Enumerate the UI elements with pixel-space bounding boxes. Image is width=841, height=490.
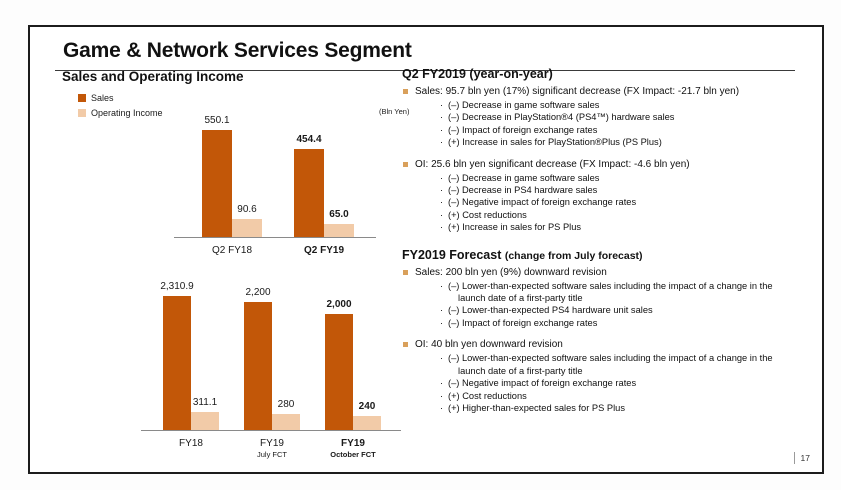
bullet-primary-text: OI: 25.6 bln yen significant decrease (F… xyxy=(415,159,690,170)
bullet-primary: OI: 25.6 bln yen significant decrease (F… xyxy=(402,158,812,172)
bullet-dot-icon: · xyxy=(440,99,443,111)
bar-operating-income-q2-fy19 xyxy=(324,224,354,237)
bullet-secondary: launch date of a first-party title xyxy=(402,365,812,377)
plot-area-top: 550.190.6Q2 FY18454.465.0Q2 FY19 xyxy=(46,87,402,287)
bullet-dot-icon: · xyxy=(440,317,443,329)
bullet-dot-icon: · xyxy=(440,172,443,184)
chart-axis-line xyxy=(141,430,401,431)
bar-sales-fy18 xyxy=(163,296,191,430)
charts-heading: Sales and Operating Income xyxy=(62,69,244,84)
bullet-primary: Sales: 95.7 bln yen (17%) significant de… xyxy=(402,85,812,99)
title-block: Game & Network Services Segment xyxy=(63,39,788,63)
bar-operating-income-fy19july-fct xyxy=(272,414,300,430)
bullet-secondary: ·(–) Decrease in game software sales xyxy=(402,99,812,111)
bullet-secondary-text: (–) Lower-than-expected PS4 hardware uni… xyxy=(448,305,653,315)
bullet-secondary: ·(–) Decrease in PS4 hardware sales xyxy=(402,184,812,196)
bullet-dot-icon: · xyxy=(440,390,443,402)
bullet-secondary: ·(+) Higher-than-expected sales for PS P… xyxy=(402,402,812,414)
bar-sales-fy19october-fct xyxy=(325,314,353,430)
bullet-square-icon xyxy=(403,270,408,275)
bar-value-label: 2,000 xyxy=(309,299,369,310)
bullet-secondary-text: (–) Impact of foreign exchange rates xyxy=(448,318,597,328)
bar-operating-income-fy19october-fct xyxy=(353,416,381,430)
slide-background: Game & Network Services Segment Sales an… xyxy=(0,0,841,490)
bullet-dot-icon: · xyxy=(440,124,443,136)
bar-value-label: 550.1 xyxy=(187,115,247,126)
bullet-secondary: ·(–) Decrease in PlayStation®4 (PS4™) ha… xyxy=(402,111,812,123)
bullet-dot-icon: · xyxy=(440,136,443,148)
bar-sales-fy19july-fct xyxy=(244,302,272,430)
bullet-secondary: ·(+) Cost reductions xyxy=(402,209,812,221)
bullet-secondary-text: (+) Increase in sales for PlayStation®Pl… xyxy=(448,137,662,147)
bullet-secondary-text: (–) Negative impact of foreign exchange … xyxy=(448,197,636,207)
chart-axis-line xyxy=(174,237,376,238)
page-number-block: 17 xyxy=(794,452,810,464)
bullet-secondary-text: (–) Decrease in game software sales xyxy=(448,173,599,183)
bar-value-label: 280 xyxy=(256,399,316,410)
bullet-primary: OI: 40 bln yen downward revision xyxy=(402,338,812,352)
bullet-secondary: ·(–) Lower-than-expected software sales … xyxy=(402,352,812,364)
section-title-q2: Q2 FY2019 (year-on-year) xyxy=(402,67,812,81)
bullet-square-icon xyxy=(403,342,408,347)
bar-sales-q2-fy19 xyxy=(294,149,324,237)
bullet-primary-text: Sales: 95.7 bln yen (17%) significant de… xyxy=(415,86,739,97)
bullet-secondary: ·(–) Impact of foreign exchange rates xyxy=(402,124,812,136)
bullet-primary-text: Sales: 200 bln yen (9%) downward revisio… xyxy=(415,267,607,278)
section-q2-fy2019: Q2 FY2019 (year-on-year) Sales: 95.7 bln… xyxy=(402,67,812,234)
bullet-dot-icon: · xyxy=(440,111,443,123)
section-title-forecast: FY2019 Forecast (change from July foreca… xyxy=(402,248,812,262)
bullet-secondary-text: (–) Impact of foreign exchange rates xyxy=(448,125,597,135)
bullet-dot-icon: · xyxy=(440,221,443,233)
slide-frame: Game & Network Services Segment Sales an… xyxy=(28,25,824,474)
section-fy2019-forecast: FY2019 Forecast (change from July foreca… xyxy=(402,248,812,415)
page-number-tick xyxy=(794,452,795,464)
bar-sales-q2-fy18 xyxy=(202,130,232,237)
bullet-primary-text: OI: 40 bln yen downward revision xyxy=(415,339,563,350)
bullet-dot-icon: · xyxy=(440,352,443,364)
bar-value-label: 2,200 xyxy=(228,287,288,298)
bullet-sublist: ·(–) Decrease in game software sales·(–)… xyxy=(402,99,812,149)
bar-value-label: 454.4 xyxy=(279,134,339,145)
bullet-secondary: ·(–) Negative impact of foreign exchange… xyxy=(402,377,812,389)
bullet-secondary-text: (–) Lower-than-expected software sales i… xyxy=(448,353,773,363)
bar-value-label: 240 xyxy=(337,401,397,412)
bullet-secondary: ·(–) Lower-than-expected software sales … xyxy=(402,280,812,292)
bullet-secondary: launch date of a first-party title xyxy=(402,292,812,304)
bullet-secondary-text: (+) Higher-than-expected sales for PS Pl… xyxy=(448,403,625,413)
bullet-dot-icon: · xyxy=(440,209,443,221)
bullet-secondary: ·(+) Increase in sales for PS Plus xyxy=(402,221,812,233)
bullet-square-icon xyxy=(403,162,408,167)
bullet-secondary-text: (–) Lower-than-expected software sales i… xyxy=(448,281,773,291)
plot-area-bottom: 2,310.9311.1FY182,200280FY19July FCT2,00… xyxy=(46,283,402,469)
bar-value-label: 2,310.9 xyxy=(147,281,207,292)
bullet-dot-icon: · xyxy=(440,280,443,292)
bar-value-label: 65.0 xyxy=(309,209,369,220)
section-title-forecast-sub: (change from July forecast) xyxy=(505,250,643,262)
bullet-secondary-text: (–) Decrease in PS4 hardware sales xyxy=(448,185,597,195)
bullet-secondary: ·(–) Lower-than-expected PS4 hardware un… xyxy=(402,304,812,316)
chart-fy-forecast: 2,310.9311.1FY182,200280FY19July FCT2,00… xyxy=(46,283,402,469)
bar-value-label: 90.6 xyxy=(217,204,277,215)
bullet-secondary-text: (+) Increase in sales for PS Plus xyxy=(448,222,581,232)
bullet-sublist: ·(–) Decrease in game software sales·(–)… xyxy=(402,172,812,234)
bar-operating-income-q2-fy18 xyxy=(232,219,262,237)
chart-q2-comparison: 550.190.6Q2 FY18454.465.0Q2 FY19 xyxy=(46,87,402,287)
bullet-secondary-text: (–) Decrease in game software sales xyxy=(448,100,599,110)
commentary-column: Q2 FY2019 (year-on-year) Sales: 95.7 bln… xyxy=(402,67,812,414)
bullet-dot-icon: · xyxy=(440,196,443,208)
bullet-dot-icon: · xyxy=(440,184,443,196)
bullet-secondary-text: (+) Cost reductions xyxy=(448,210,527,220)
bullet-primary: Sales: 200 bln yen (9%) downward revisio… xyxy=(402,266,812,280)
page-number: 17 xyxy=(801,453,810,463)
bullet-sublist: ·(–) Lower-than-expected software sales … xyxy=(402,280,812,330)
bullet-secondary-text: (–) Negative impact of foreign exchange … xyxy=(448,378,636,388)
charts-column: Sales and Operating Income Sales Operati… xyxy=(46,69,402,469)
bullet-dot-icon: · xyxy=(440,402,443,414)
bullet-secondary-text: (–) Decrease in PlayStation®4 (PS4™) har… xyxy=(448,112,674,122)
bullet-secondary-text: (+) Cost reductions xyxy=(448,391,527,401)
bullet-secondary: ·(+) Increase in sales for PlayStation®P… xyxy=(402,136,812,148)
bullet-square-icon xyxy=(403,89,408,94)
bullet-secondary: ·(+) Cost reductions xyxy=(402,390,812,402)
section-q2-bullets: Sales: 95.7 bln yen (17%) significant de… xyxy=(402,85,812,234)
bullet-secondary: ·(–) Decrease in game software sales xyxy=(402,172,812,184)
page-title: Game & Network Services Segment xyxy=(63,39,788,63)
bullet-sublist: ·(–) Lower-than-expected software sales … xyxy=(402,352,812,414)
category-label: FY19October FCT xyxy=(298,438,408,460)
category-label: Q2 FY19 xyxy=(269,245,379,256)
bullet-secondary: ·(–) Impact of foreign exchange rates xyxy=(402,317,812,329)
bullet-secondary-text-continued: launch date of a first-party title xyxy=(448,292,812,304)
bullet-secondary: ·(–) Negative impact of foreign exchange… xyxy=(402,196,812,208)
section-title-forecast-main: FY2019 Forecast xyxy=(402,248,505,262)
bullet-dot-icon: · xyxy=(440,377,443,389)
bullet-secondary-text-continued: launch date of a first-party title xyxy=(448,365,812,377)
section-forecast-bullets: Sales: 200 bln yen (9%) downward revisio… xyxy=(402,266,812,415)
bullet-dot-icon: · xyxy=(440,304,443,316)
bar-value-label: 311.1 xyxy=(175,397,235,408)
bar-operating-income-fy18 xyxy=(191,412,219,430)
